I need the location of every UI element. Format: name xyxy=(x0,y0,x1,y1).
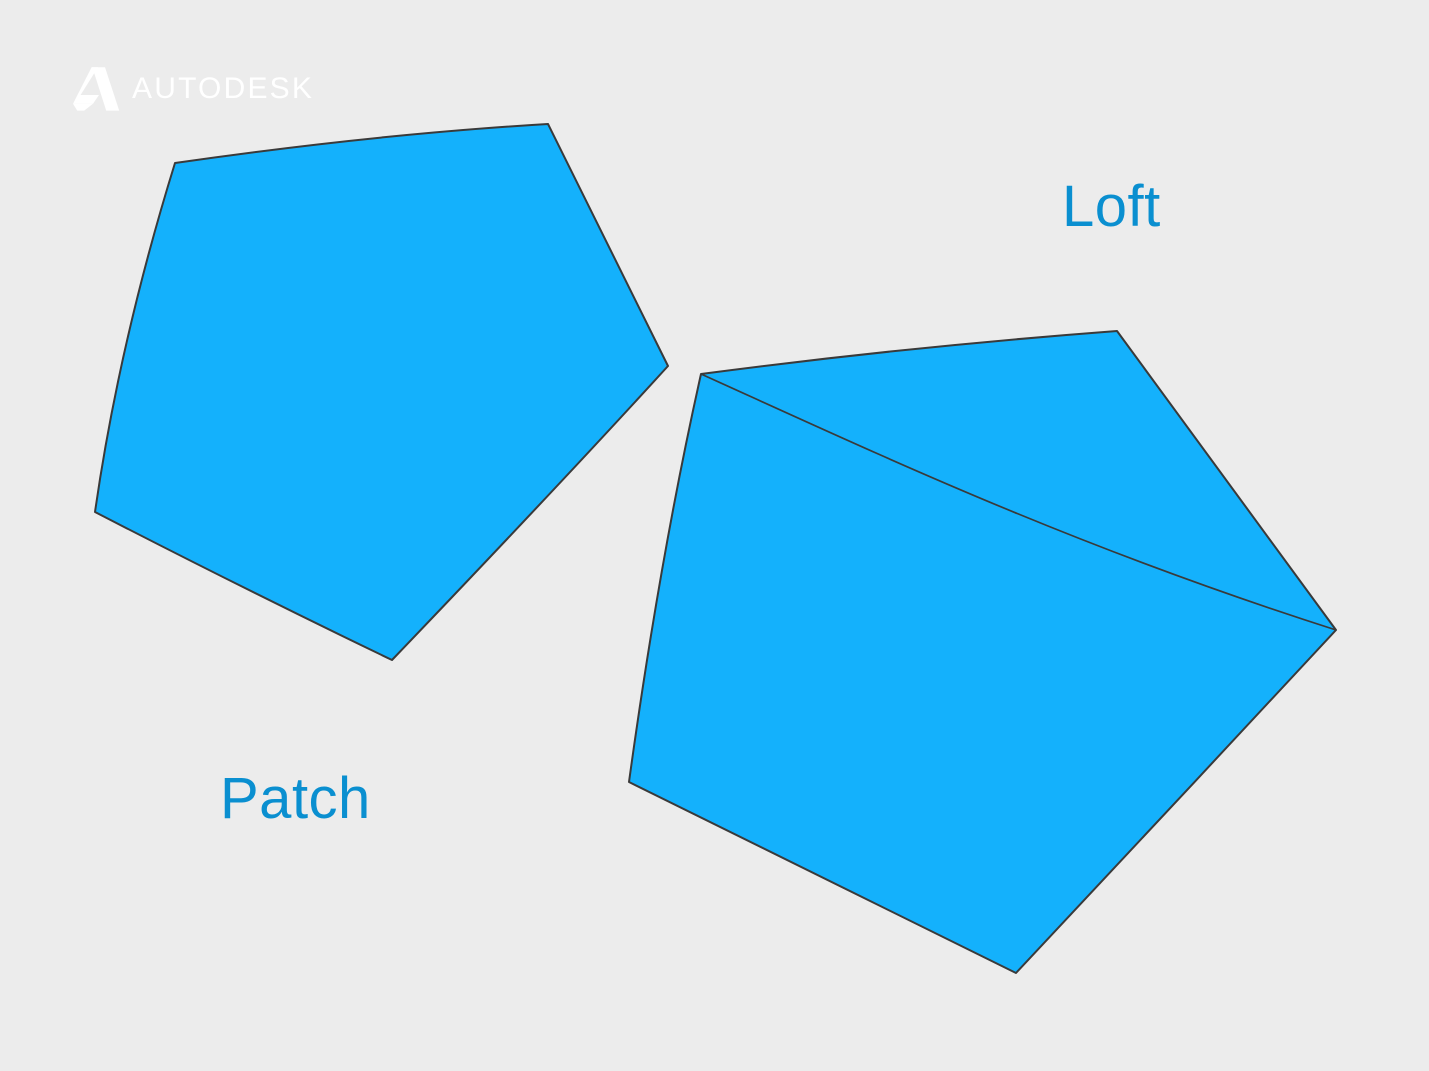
patch-surface[interactable] xyxy=(95,124,668,660)
loft-surface[interactable] xyxy=(629,331,1336,973)
patch-label: Patch xyxy=(220,770,371,828)
loft-label: Loft xyxy=(1062,178,1161,236)
autodesk-logo: AUTODESK xyxy=(72,64,314,114)
autodesk-a-mark-icon xyxy=(72,64,120,114)
diagram-canvas: AUTODESK Loft Patch xyxy=(0,0,1429,1071)
surface-scene xyxy=(0,0,1429,1071)
autodesk-wordmark: AUTODESK xyxy=(132,74,314,104)
